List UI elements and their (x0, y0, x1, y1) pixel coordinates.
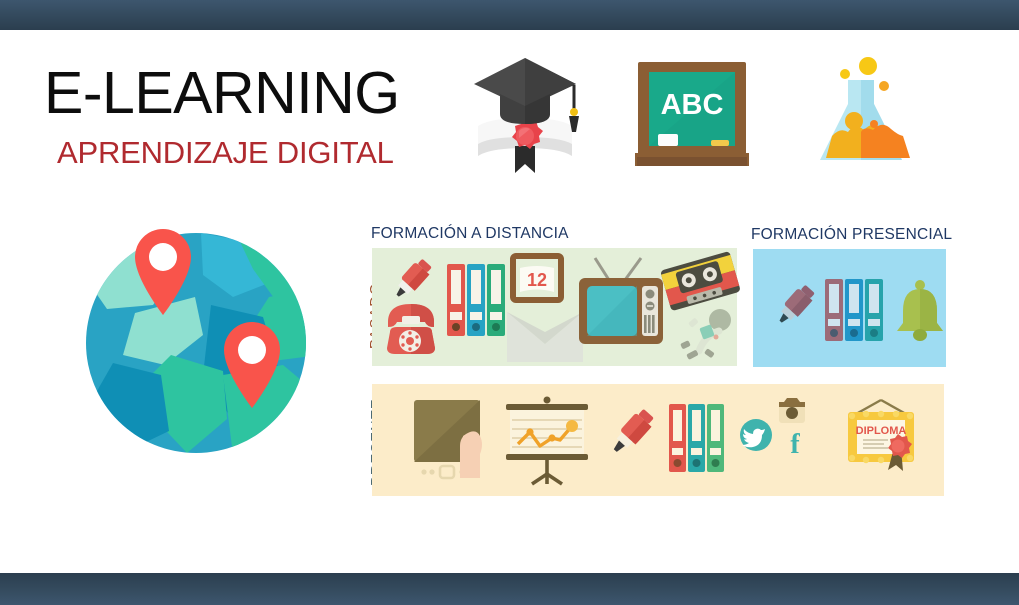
instagram-camera-icon (778, 398, 806, 424)
page-subtitle: APRENDIZAJE DIGITAL (57, 136, 400, 170)
slide-canvas: E-LEARNING APRENDIZAJE DIGITAL (0, 0, 1019, 605)
top-decorative-bar (0, 0, 1019, 30)
title-block: E-LEARNING APRENDIZAJE DIGITAL (44, 62, 400, 170)
retro-tv-icon (575, 256, 667, 348)
marker-pen-icon (604, 404, 660, 460)
diploma-icon: DIPLOMA (838, 396, 924, 476)
twitter-icon (739, 418, 773, 452)
calendar-icon: 12 (511, 254, 563, 304)
panel-pasado-distancia: 12 (372, 248, 737, 366)
bell-icon (889, 277, 951, 343)
header-icon-row: ABC (460, 38, 980, 178)
binders-icon (445, 262, 507, 338)
binders-icon (823, 277, 885, 343)
binders-icon (668, 402, 726, 474)
page-title: E-LEARNING (44, 62, 400, 124)
chalkboard-icon: ABC (632, 58, 752, 173)
facebook-letter: f (790, 429, 800, 460)
graduation-cap-diploma-icon (470, 48, 580, 173)
panel-presente: f DIPLO (372, 384, 944, 496)
panel-pasado-presencial (753, 249, 946, 367)
globe-with-pins-icon (83, 205, 319, 455)
envelope-icon (505, 310, 585, 364)
facebook-icon: f (783, 428, 807, 458)
headset-icon (675, 304, 737, 366)
section-heading-presencial: FORMACIÓN PRESENCIAL (751, 226, 952, 244)
rotary-telephone-icon (380, 296, 442, 358)
bottom-decorative-bar (0, 573, 1019, 605)
flask-icon (810, 48, 915, 173)
chalkboard-text: ABC (661, 89, 724, 121)
section-heading-distancia: FORMACIÓN A DISTANCIA (371, 225, 569, 243)
hand-tablet-icon (410, 398, 496, 480)
calendar-day-number: 12 (527, 270, 547, 290)
marker-pen-icon (771, 281, 819, 329)
presentation-chart-icon (502, 396, 592, 484)
